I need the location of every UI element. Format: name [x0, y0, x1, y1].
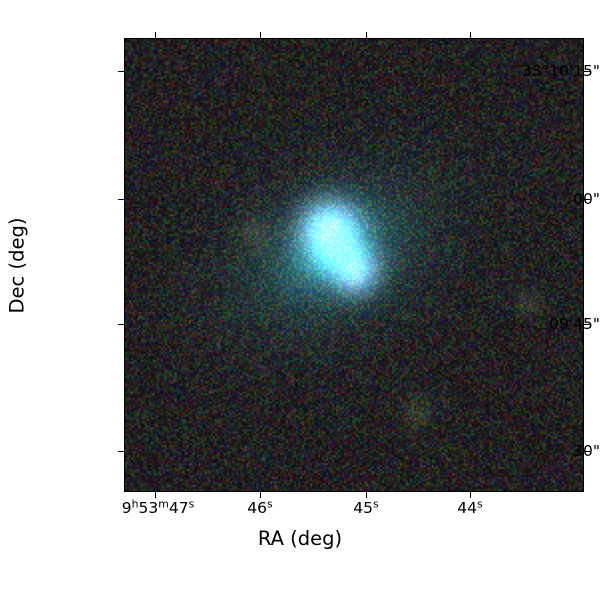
xtick-mark-top-3 [470, 32, 471, 38]
ytick-label-1: 00" [487, 192, 600, 208]
xtick-mark-3 [470, 492, 471, 498]
ytick-mark-1 [118, 199, 124, 200]
xtick-mark-2 [366, 492, 367, 498]
xtick-label-0: 9h53m47s [122, 501, 194, 517]
ytick-label-3: 30" [487, 444, 600, 460]
xtick-mark-top-1 [260, 32, 261, 38]
xtick-mark-top-2 [366, 32, 367, 38]
xtick-mark-1 [260, 492, 261, 498]
ytick-label-2: 09'45" [487, 317, 600, 333]
xtick-label-3-text: 44s [457, 499, 482, 517]
xtick-label-2: 45s [353, 501, 378, 517]
ytick-label-0: 33°10'15" [487, 64, 600, 80]
xtick-label-3: 44s [457, 501, 482, 517]
xtick-mark-0 [155, 492, 156, 498]
xtick-label-1-text: 46s [247, 499, 272, 517]
xtick-label-2-text: 45s [353, 499, 378, 517]
y-axis-title: Dec (deg) [6, 217, 29, 313]
ytick-mark-2 [118, 324, 124, 325]
sky-image-plot[interactable] [124, 38, 584, 492]
sky-image-canvas [125, 39, 583, 491]
xtick-label-1: 46s [247, 501, 272, 517]
x-axis-title: RA (deg) [0, 527, 600, 550]
xtick-label-0-text: 9h53m47s [122, 499, 194, 517]
xtick-mark-top-0 [155, 32, 156, 38]
y-axis-title-wrap: Dec (deg) [0, 0, 34, 530]
ytick-mark-0 [118, 71, 124, 72]
figure-canvas: 33°10'15" 00" 09'45" 30" 9h53m47s 46s 45… [0, 0, 600, 600]
ytick-mark-3 [118, 451, 124, 452]
